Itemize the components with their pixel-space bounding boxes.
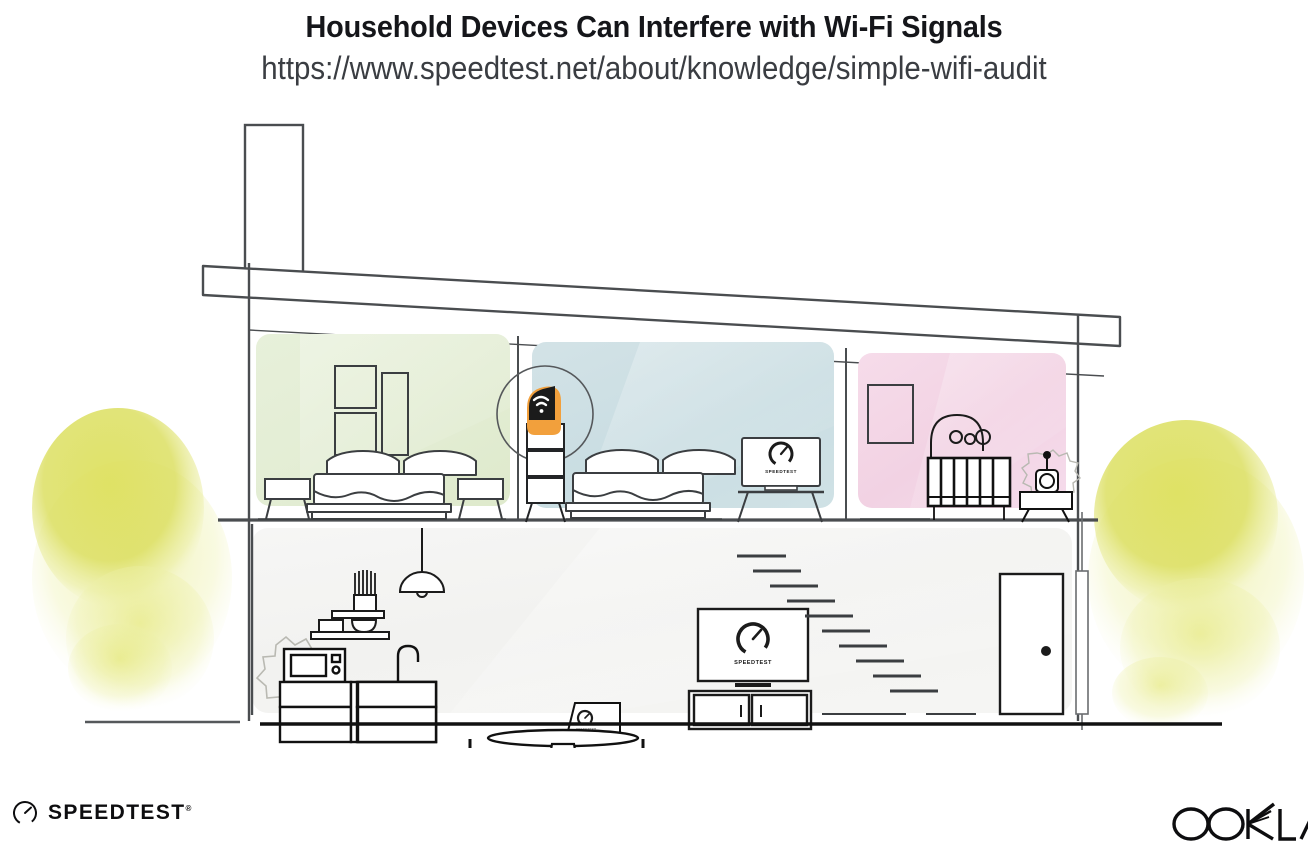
microwave bbox=[284, 649, 345, 682]
door-knob bbox=[1041, 646, 1051, 656]
header: Household Devices Can Interfere with Wi-… bbox=[0, 0, 1308, 88]
ookla-wordmark: ® bbox=[1170, 802, 1308, 846]
side-table-nursery bbox=[1020, 492, 1072, 522]
router-wifi-icon bbox=[527, 386, 561, 435]
page-title: Household Devices Can Interfere with Wi-… bbox=[46, 8, 1262, 46]
crib bbox=[928, 458, 1010, 520]
speedtest-trademark: ® bbox=[185, 804, 191, 813]
speedtest-logo: SPEEDTEST® bbox=[12, 800, 191, 826]
room-bedroom-green bbox=[256, 334, 510, 519]
house-illustration: SPEEDTEST bbox=[0, 108, 1308, 748]
infographic-root: Household Devices Can Interfere with Wi-… bbox=[0, 0, 1308, 861]
ookla-logo: ® bbox=[1170, 802, 1308, 851]
footer: SPEEDTEST® ® bbox=[0, 786, 1308, 861]
tv-label: SPEEDTEST bbox=[734, 660, 772, 666]
speedtest-wordmark: SPEEDTEST® bbox=[48, 801, 191, 825]
front-door bbox=[1000, 574, 1063, 714]
source-url: https://www.speedtest.net/about/knowledg… bbox=[52, 48, 1255, 88]
monitor-label: SPEEDTEST bbox=[765, 469, 797, 474]
desk-blue: SPEEDTEST bbox=[738, 438, 824, 522]
nightstand-right-green bbox=[458, 479, 503, 519]
foliage-right bbox=[1088, 420, 1304, 729]
kitchen-counter-right bbox=[358, 682, 436, 742]
tv-unit: SPEEDTEST bbox=[689, 609, 811, 729]
room-bedroom-blue: SPEEDTEST bbox=[497, 342, 834, 522]
room-nursery-pink bbox=[858, 353, 1080, 522]
nightstand-left-green bbox=[265, 479, 310, 519]
foliage-left bbox=[32, 408, 232, 712]
room-living-kitchen: SPEEDTEST bbox=[252, 524, 1072, 748]
chimney bbox=[245, 125, 303, 280]
speedometer-icon bbox=[12, 800, 38, 826]
